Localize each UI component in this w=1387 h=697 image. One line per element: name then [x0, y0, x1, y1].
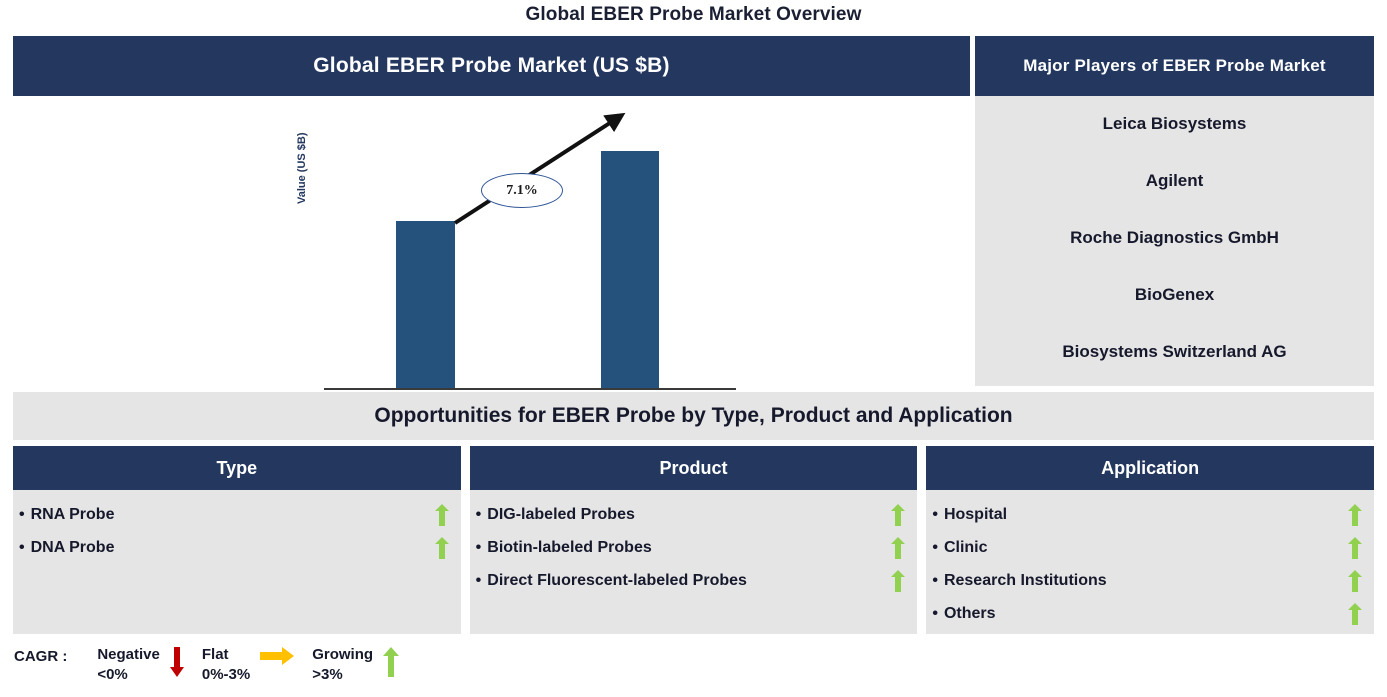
legend-growing-name: Growing	[312, 646, 373, 663]
list-item: Agilent	[985, 171, 1364, 191]
page-title: Global EBER Probe Market Overview	[0, 4, 1387, 26]
list-item: Research Institutions	[932, 564, 1362, 597]
arrow-up-green-icon	[891, 537, 905, 559]
column-header-type: Type	[13, 446, 461, 490]
legend-negative-range: <0%	[97, 665, 160, 685]
legend-entry-negative-text: Negative <0%	[97, 645, 160, 685]
list-item-label: Hospital	[932, 506, 1007, 524]
list-item: BioGenex	[985, 285, 1364, 305]
list-item: Hospital	[932, 498, 1362, 531]
legend-negative-name: Negative	[97, 646, 160, 663]
arrow-up-green-icon	[1348, 603, 1362, 625]
legend-growing-range: >3%	[312, 665, 373, 685]
legend-entry-growing-text: Growing >3%	[312, 645, 373, 685]
y-axis-label: Value (US $B)	[296, 188, 308, 204]
column-body-product: DIG-labeled Probes Biotin-labeled Probes…	[470, 490, 918, 634]
growth-arrow-icon	[324, 106, 736, 390]
major-players-panel: Major Players of EBER Probe Market Leica…	[975, 36, 1374, 386]
arrow-up-green-icon	[383, 647, 399, 677]
column-body-application: Hospital Clinic Research Institutions	[926, 490, 1374, 634]
arrow-up-green-icon	[891, 570, 905, 592]
legend-entry-growing: Growing >3%	[312, 645, 409, 685]
opportunities-section: Opportunities for EBER Probe by Type, Pr…	[13, 392, 1374, 634]
arrow-up-green-icon	[1348, 537, 1362, 559]
chart-plot-area: 2026 2035 7.1%	[324, 106, 736, 390]
list-item: Others	[932, 597, 1362, 630]
arrow-up-green-icon	[891, 504, 905, 526]
column-body-type: RNA Probe DNA Probe	[13, 490, 461, 634]
list-item: Roche Diagnostics GmbH	[985, 228, 1364, 248]
list-item-label: Direct Fluorescent-labeled Probes	[476, 572, 747, 590]
legend-entry-flat-text: Flat 0%-3%	[202, 645, 250, 685]
list-item-label: Research Institutions	[932, 572, 1106, 590]
cagr-callout: 7.1%	[481, 173, 563, 208]
list-item-label: RNA Probe	[19, 506, 114, 524]
list-item-label: Others	[932, 605, 995, 623]
list-item: DNA Probe	[19, 531, 449, 564]
arrow-up-green-icon	[1348, 570, 1362, 592]
arrow-up-green-icon	[435, 537, 449, 559]
opportunity-column-application: Application Hospital Clinic Research Ins…	[926, 446, 1374, 634]
players-panel-header: Major Players of EBER Probe Market	[975, 36, 1374, 96]
column-header-product: Product	[470, 446, 918, 490]
column-header-application: Application	[926, 446, 1374, 490]
list-item: Clinic	[932, 531, 1362, 564]
opportunities-title: Opportunities for EBER Probe by Type, Pr…	[13, 392, 1374, 440]
market-chart-panel: Global EBER Probe Market (US $B) Value (…	[13, 36, 970, 386]
list-item: Direct Fluorescent-labeled Probes	[476, 564, 906, 597]
legend-entry-flat: Flat 0%-3%	[202, 645, 304, 685]
top-row: Global EBER Probe Market (US $B) Value (…	[13, 36, 1374, 386]
bar-chart: Value (US $B) 2026 2035 7.1% So	[13, 96, 970, 386]
list-item: DIG-labeled Probes	[476, 498, 906, 531]
list-item-label: Biotin-labeled Probes	[476, 539, 652, 557]
cagr-legend: CAGR : Negative <0% Flat 0%-3% Growing >…	[14, 645, 417, 691]
opportunity-column-product: Product DIG-labeled Probes Biotin-labele…	[470, 446, 918, 634]
legend-flat-name: Flat	[202, 646, 229, 663]
legend-flat-range: 0%-3%	[202, 665, 250, 685]
list-item-label: DNA Probe	[19, 539, 114, 557]
market-panel-header: Global EBER Probe Market (US $B)	[13, 36, 970, 96]
list-item: RNA Probe	[19, 498, 449, 531]
arrow-up-green-icon	[435, 504, 449, 526]
arrow-right-yellow-icon	[260, 647, 294, 667]
opportunities-columns: Type RNA Probe DNA Probe Product	[13, 446, 1374, 634]
list-item: Biotin-labeled Probes	[476, 531, 906, 564]
arrow-up-green-icon	[1348, 504, 1362, 526]
list-item-label: Clinic	[932, 539, 987, 557]
cagr-legend-label: CAGR :	[14, 645, 67, 667]
legend-entry-negative: Negative <0%	[97, 645, 194, 685]
arrow-down-red-icon	[170, 647, 184, 677]
list-item-label: DIG-labeled Probes	[476, 506, 635, 524]
opportunity-column-type: Type RNA Probe DNA Probe	[13, 446, 461, 634]
list-item: Biosystems Switzerland AG	[985, 342, 1364, 362]
list-item: Leica Biosystems	[985, 114, 1364, 134]
players-list: Leica Biosystems Agilent Roche Diagnosti…	[975, 96, 1374, 372]
